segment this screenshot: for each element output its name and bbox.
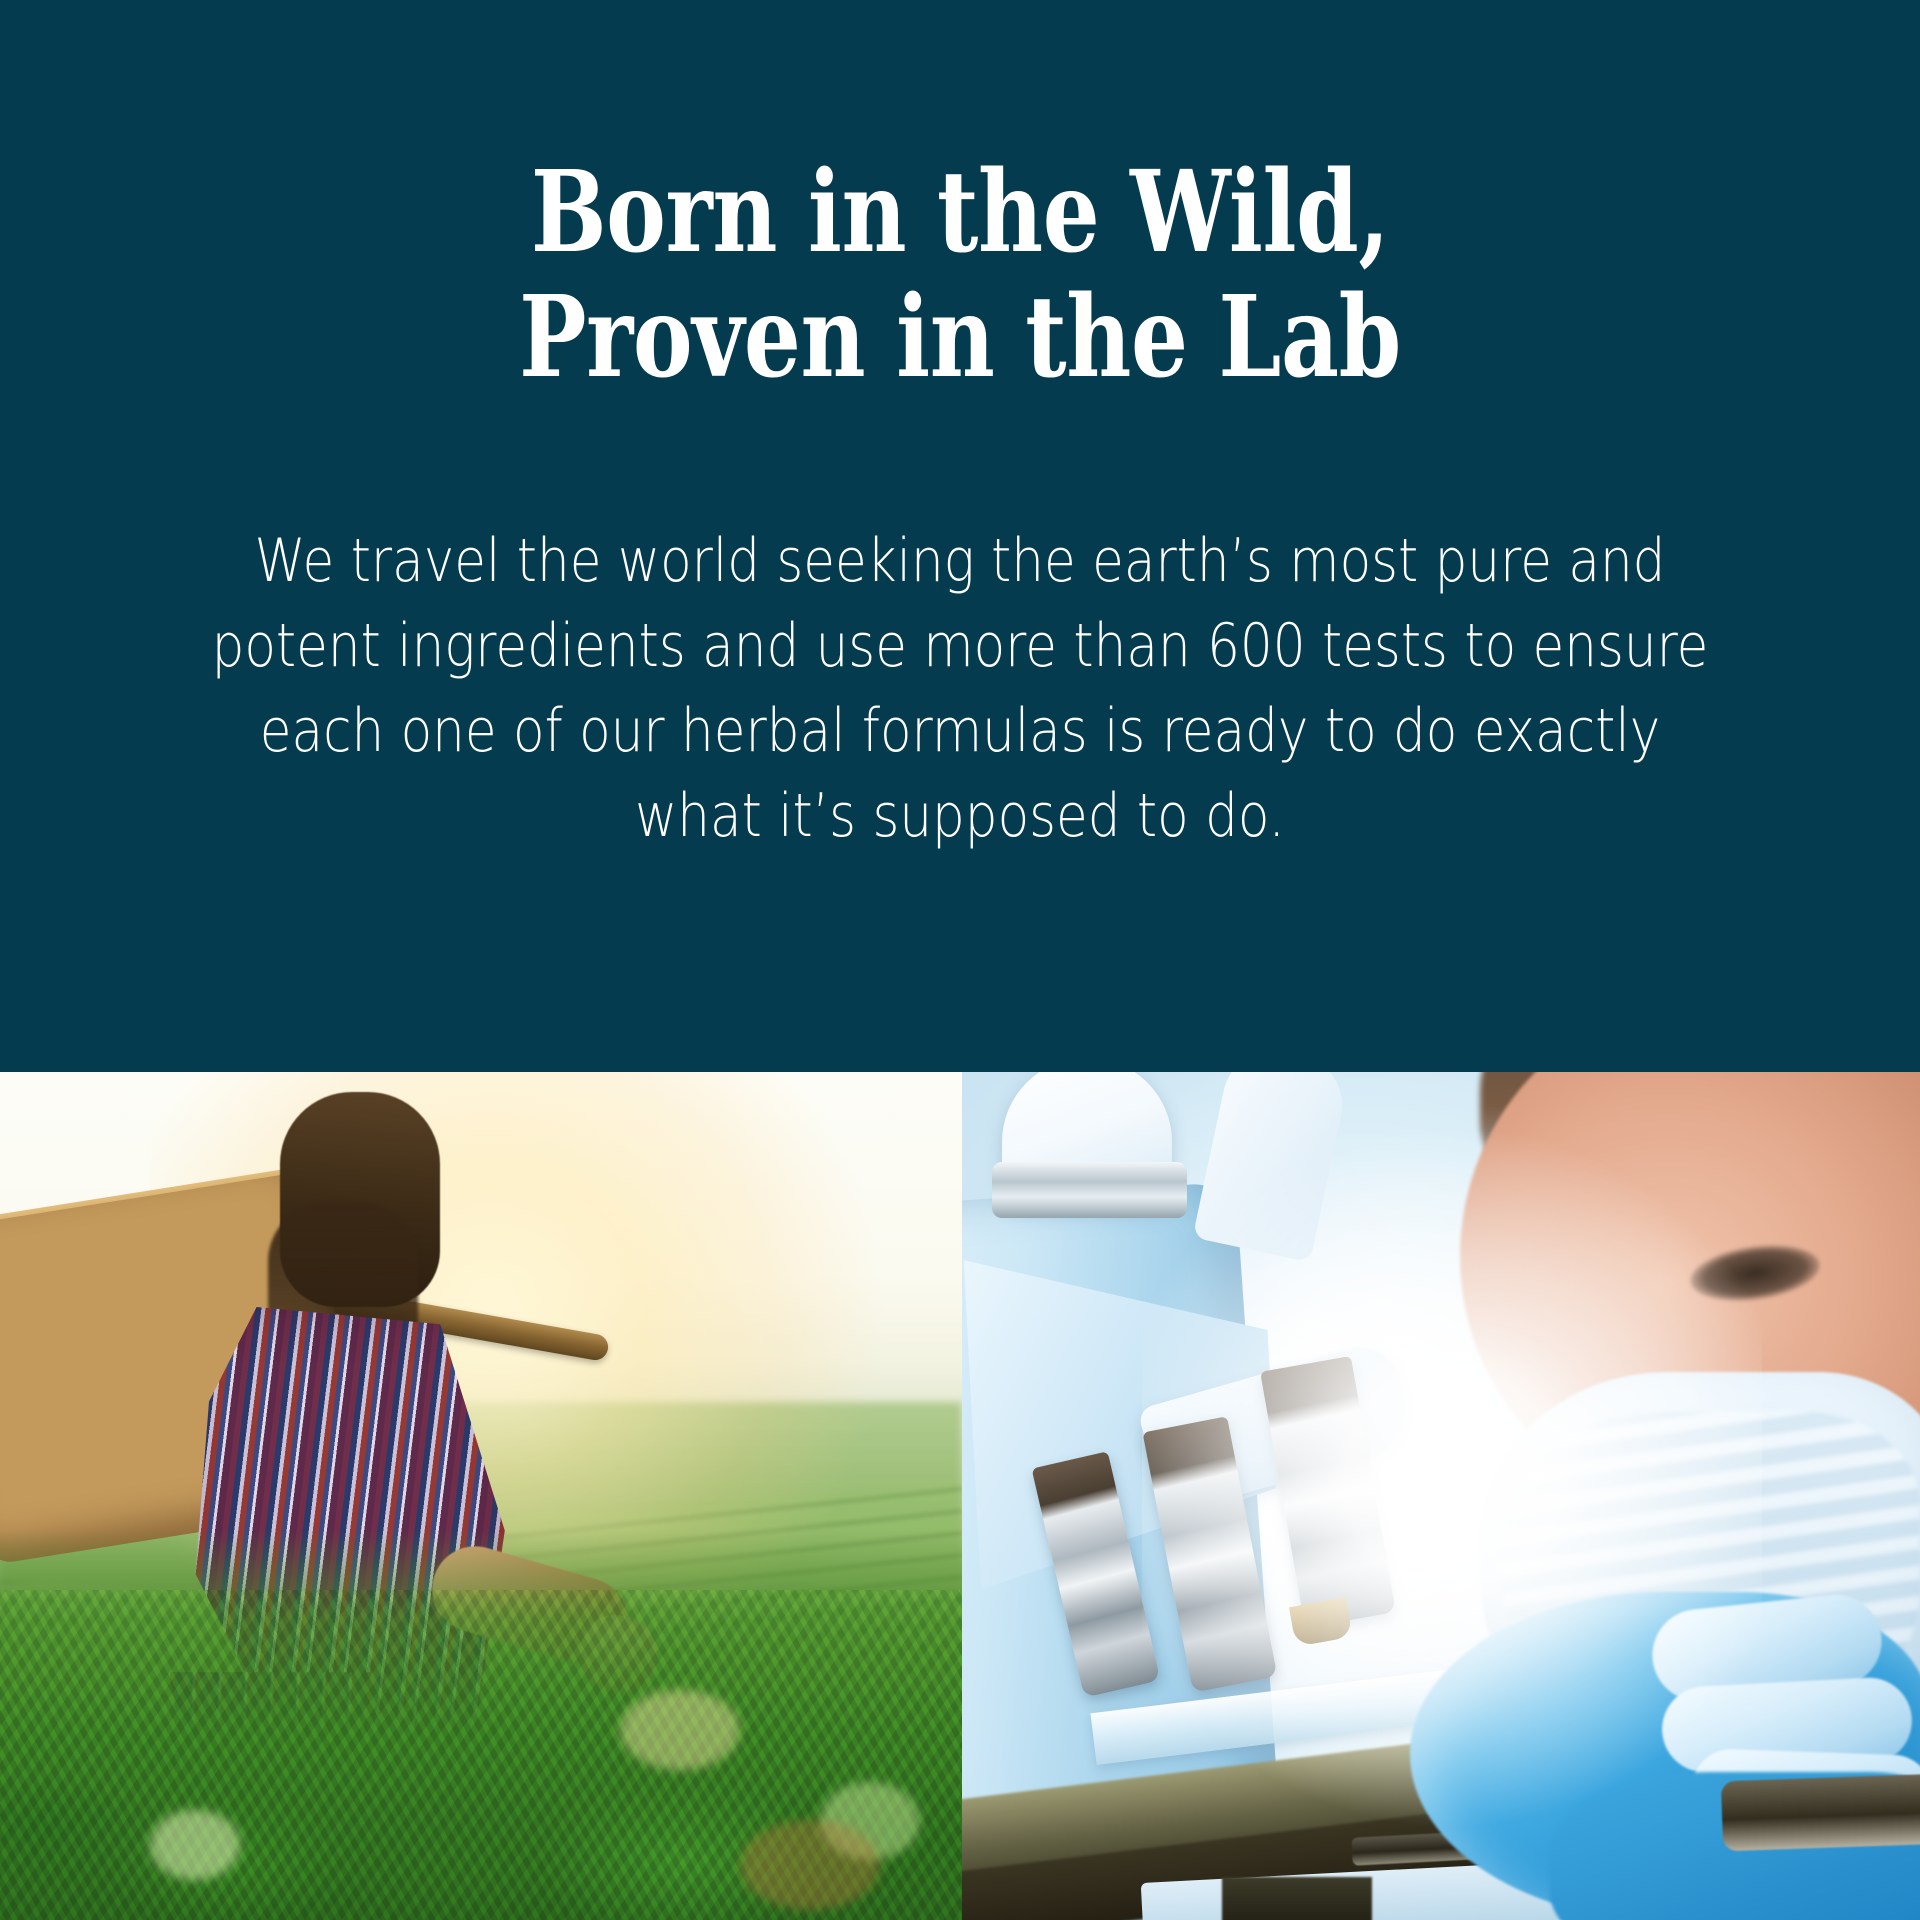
photo-wild-sourcing: Tea harvester walking through a sunlit t…	[0, 1072, 962, 1920]
bokeh-highlight	[740, 1820, 880, 1910]
hero-description: We travel the world seeking the earth’s …	[208, 519, 1713, 860]
microscope-base-shadow	[1222, 1877, 1372, 1920]
promo-panel: Born in the Wild, Proven in the Lab We t…	[0, 0, 1920, 1920]
page-title: Born in the Wild, Proven in the Lab	[320, 150, 1600, 401]
photo-lab-testing: Masked laboratory scientist in blue glov…	[962, 1072, 1920, 1920]
hero-section: Born in the Wild, Proven in the Lab We t…	[0, 0, 1920, 1072]
photo-strip: Tea harvester walking through a sunlit t…	[0, 1072, 1920, 1920]
microscope-focus-knob	[1721, 1773, 1920, 1852]
eyepiece-ring	[992, 1162, 1187, 1218]
bokeh-highlight	[150, 1810, 240, 1880]
bokeh-highlight	[620, 1690, 740, 1770]
